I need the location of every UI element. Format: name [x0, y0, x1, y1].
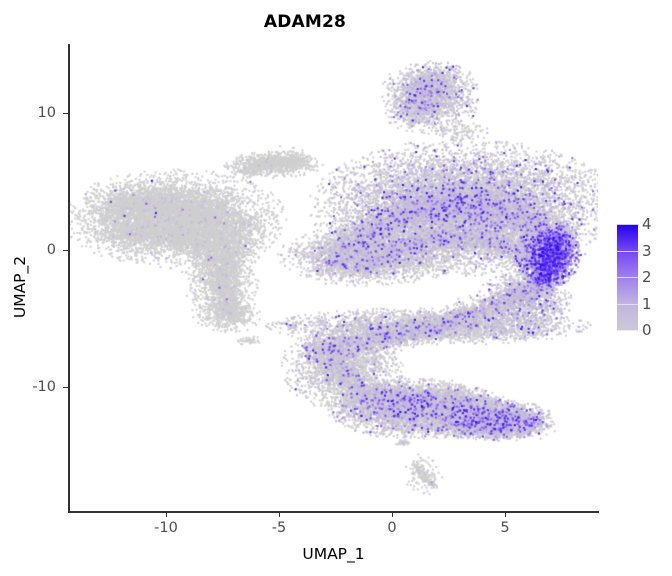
legend-colorbar-group: 43210: [612, 218, 668, 342]
colorbar-tick-mark: [617, 330, 638, 331]
page-title: ADAM28: [0, 12, 610, 32]
colorbar-tick-mark: [617, 304, 638, 305]
x-tick-mark: [279, 512, 280, 517]
x-tick-label: -10: [136, 520, 196, 536]
x-tick-mark: [505, 512, 506, 517]
colorbar-tick-label: 4: [642, 215, 652, 233]
umap-feature-plot: ADAM28 -10010 -10-505 UMAP_1 UMAP_2 4321…: [0, 0, 672, 576]
x-axis-label: UMAP_1: [69, 545, 598, 563]
colorbar-tick-mark: [617, 224, 638, 225]
colorbar-tick-mark: [617, 277, 638, 278]
y-tick-label: -10: [8, 379, 56, 395]
colorbar-tick-label: 0: [642, 321, 652, 339]
x-tick-mark: [166, 512, 167, 517]
x-tick-label: -5: [249, 520, 309, 536]
x-tick-label: 0: [362, 520, 422, 536]
colorbar-tick-label: 3: [642, 242, 652, 260]
y-tick-mark: [63, 387, 68, 388]
x-tick-label: 5: [475, 520, 535, 536]
colorbar-tick-label: 1: [642, 295, 652, 313]
y-tick-mark: [63, 113, 68, 114]
x-tick-mark: [392, 512, 393, 517]
x-axis-line: [68, 511, 599, 513]
y-axis-line: [68, 44, 70, 513]
y-tick-mark: [63, 250, 68, 251]
colorbar-tick-mark: [617, 251, 638, 252]
y-axis-label: UMAP_2: [11, 207, 29, 367]
colorbar-tick-label: 2: [642, 268, 652, 286]
scatter-canvas: [69, 44, 598, 512]
y-tick-label: 10: [8, 105, 56, 121]
plot-panel: [69, 44, 598, 512]
